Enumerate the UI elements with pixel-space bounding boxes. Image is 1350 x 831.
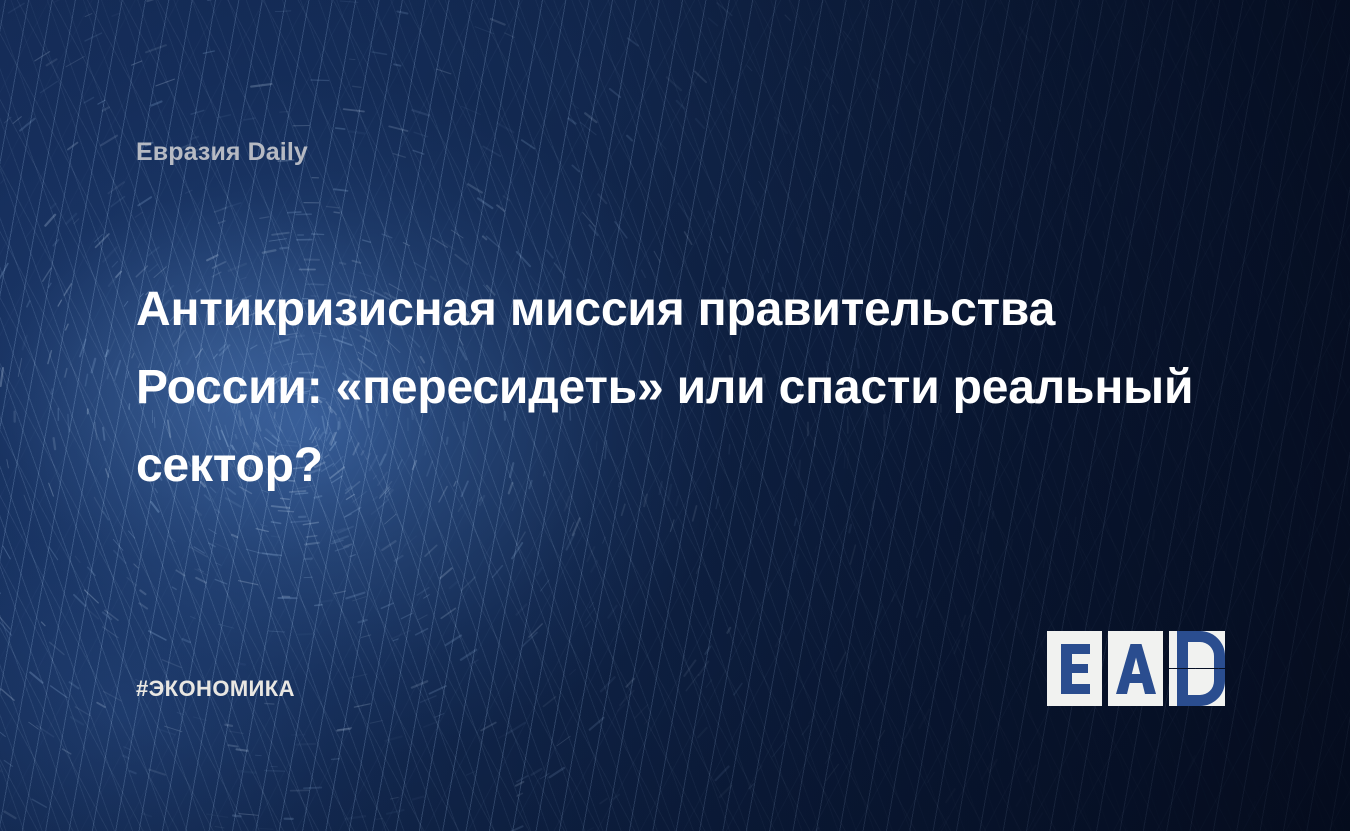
site-brand-label: Евразия Daily	[136, 138, 308, 167]
ead-logo[interactable]	[1047, 631, 1225, 706]
logo-tile-e	[1047, 631, 1102, 706]
category-hashtag: #ЭКОНОМИКА	[136, 676, 295, 702]
social-share-card: Евразия Daily Антикризисная миссия прави…	[0, 0, 1350, 831]
logo-tile-d	[1169, 631, 1225, 706]
logo-tile-d-upper	[1169, 631, 1225, 668]
logo-tile-a	[1108, 631, 1163, 706]
article-headline: Антикризисная миссия правительства Росси…	[136, 271, 1206, 505]
card-content: Евразия Daily Антикризисная миссия прави…	[0, 0, 1350, 831]
logo-tile-d-lower	[1169, 669, 1225, 706]
